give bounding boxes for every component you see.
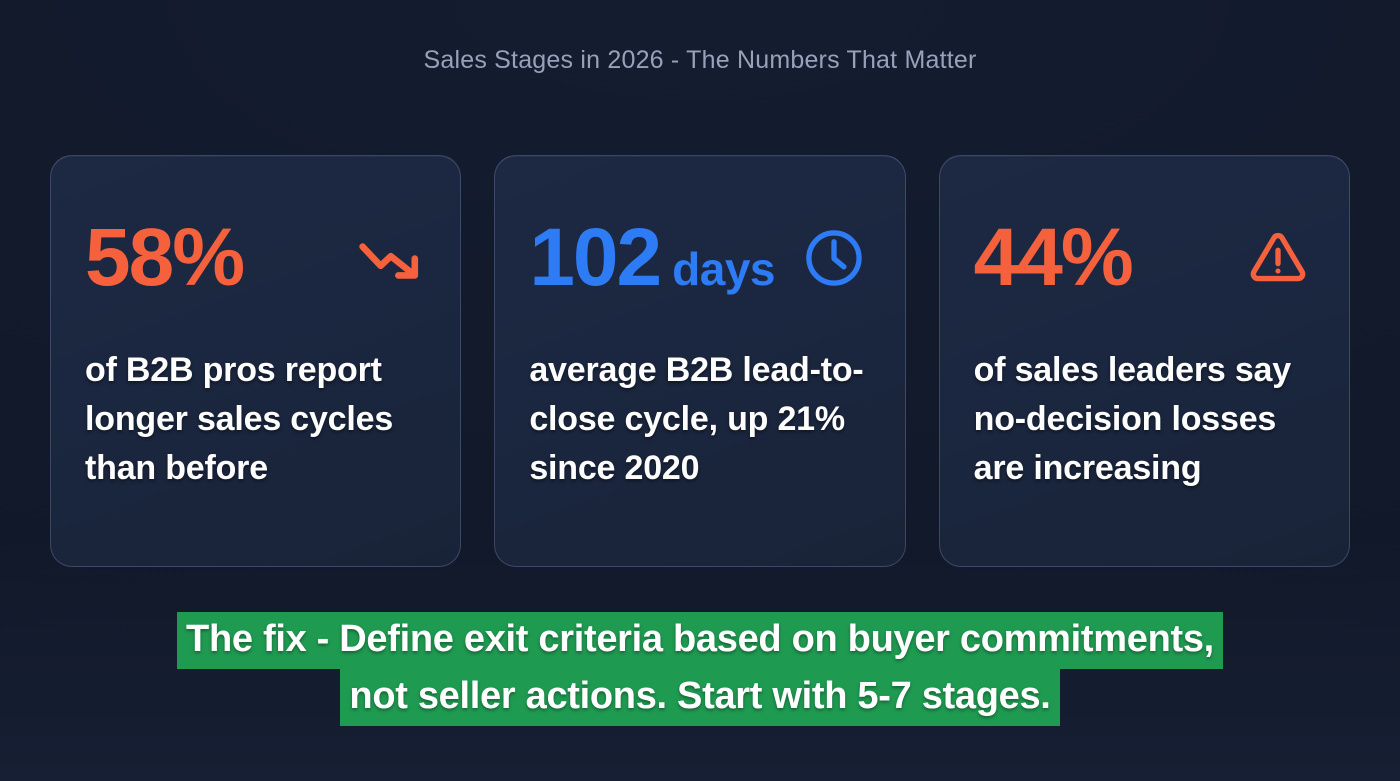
stat-card: 102 days average B2B lead-to-close cycle… [494, 155, 905, 567]
stat-card: 44% of sales leaders say no-decision los… [939, 155, 1350, 567]
stat-description: average B2B lead-to-close cycle, up 21% … [529, 346, 870, 493]
stat-row: 58% [85, 212, 426, 304]
clock-icon [797, 221, 871, 295]
stat-row: 44% [974, 212, 1315, 304]
stat-figure: 58% [85, 217, 255, 299]
stat-figure: 44% [974, 217, 1144, 299]
stat-description: of sales leaders say no-decision losses … [974, 346, 1315, 493]
warning-triangle-icon [1241, 221, 1315, 295]
stat-unit: days [672, 246, 775, 292]
stat-row: 102 days [529, 212, 870, 304]
trending-down-icon [352, 221, 426, 295]
fix-callout-line: not seller actions. Start with 5-7 stage… [340, 669, 1059, 726]
stat-card-group: 58% of B2B pros report longer sales cycl… [50, 155, 1350, 567]
page-title: Sales Stages in 2026 - The Numbers That … [0, 46, 1400, 75]
fix-callout: The fix - Define exit criteria based on … [0, 612, 1400, 726]
stat-number: 102 [529, 217, 660, 299]
stat-card: 58% of B2B pros report longer sales cycl… [50, 155, 461, 567]
infographic-slide: Sales Stages in 2026 - The Numbers That … [0, 0, 1400, 781]
stat-number: 44% [974, 217, 1132, 299]
stat-description: of B2B pros report longer sales cycles t… [85, 346, 426, 493]
stat-number: 58% [85, 217, 243, 299]
fix-callout-line: The fix - Define exit criteria based on … [177, 612, 1223, 669]
stat-figure: 102 days [529, 217, 775, 299]
